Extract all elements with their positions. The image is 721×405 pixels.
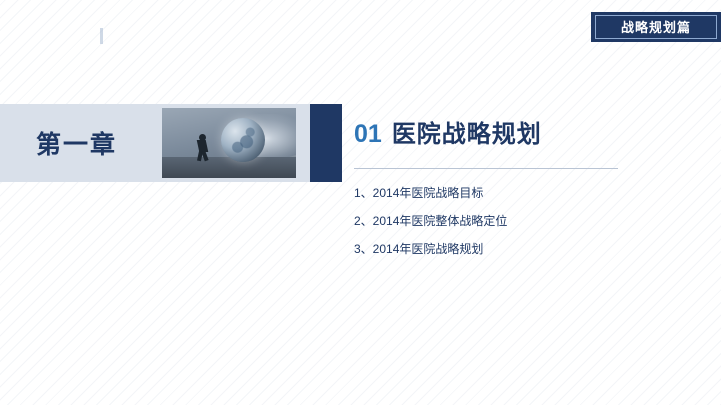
slide-canvas: 战略规划篇 第一章 01 医院战略规划 1、2014年医院战略目标 2、2014…: [0, 0, 721, 405]
chapter-title: 第一章: [36, 125, 117, 161]
agenda-list: 1、2014年医院战略目标 2、2014年医院整体战略定位 3、2014年医院战…: [354, 179, 684, 263]
section-heading: 01 医院战略规划: [354, 122, 542, 147]
globe-icon: [221, 118, 265, 162]
list-item: 3、2014年医院战略规划: [354, 235, 684, 263]
heading-accent-bar: [310, 104, 342, 182]
list-item: 2、2014年医院整体战略定位: [354, 207, 684, 235]
corner-badge-label: 战略规划篇: [621, 21, 691, 34]
corner-badge: 战略规划篇: [591, 12, 721, 42]
chapter-photo: [162, 108, 296, 178]
decorative-mark: [100, 28, 103, 44]
heading-divider: [354, 168, 618, 169]
list-item: 1、2014年医院战略目标: [354, 179, 684, 207]
corner-badge-border: 战略规划篇: [595, 15, 717, 39]
person-leg-back: [202, 150, 209, 161]
photo-ground: [162, 157, 296, 178]
person-icon: [198, 134, 210, 160]
section-number: 01: [354, 122, 382, 147]
page-title: 医院战略规划: [392, 123, 542, 147]
